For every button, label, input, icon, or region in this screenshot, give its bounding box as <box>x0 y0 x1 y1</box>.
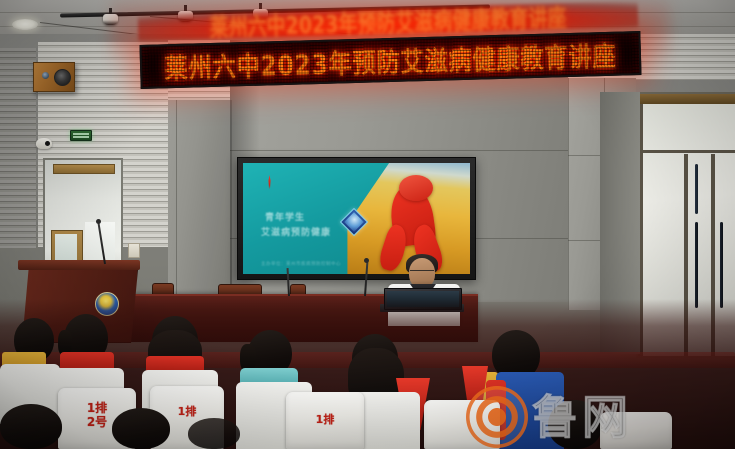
cdc-badge-inner <box>344 212 364 232</box>
student-head <box>548 400 602 449</box>
panel-seam <box>176 100 177 300</box>
seat-row-label: 1排 <box>286 414 364 426</box>
exit-sign-bar <box>73 133 89 135</box>
door-header <box>53 164 115 174</box>
student-head <box>112 408 170 449</box>
door-handle[interactable] <box>695 222 698 308</box>
panel-seam <box>230 150 568 151</box>
slide-footer-text: 主办单位：莱州市疾病预防控制中心 <box>261 261 341 267</box>
door-handle[interactable] <box>720 222 723 308</box>
door-mullion <box>643 150 735 153</box>
seat-cover <box>600 412 672 449</box>
emergency-exit-sign <box>70 130 92 141</box>
speaker-cone <box>54 69 71 86</box>
track-spotlight-head <box>103 14 118 25</box>
table-microphone-head <box>364 258 369 263</box>
door-header <box>638 94 735 104</box>
ceiling-security-camera <box>36 138 52 149</box>
seat-cover <box>424 400 500 449</box>
ceiling-downlight <box>12 19 38 30</box>
track-spotlight <box>103 8 119 26</box>
photo-scene: 莱州六中2023年预防艾滋病健康教育讲座 莱州六中2023年预防艾滋病健康教育讲… <box>0 0 735 449</box>
slat-wall-far-left <box>0 48 36 248</box>
aids-red-ribbon-sculpture <box>399 175 433 201</box>
slide-title-line-2: 艾滋病预防健康 <box>261 225 331 238</box>
wall-mounted-speaker <box>33 62 75 92</box>
slide-title-line-1: 青年学生 <box>265 210 305 223</box>
exit-sign-bar <box>73 136 89 138</box>
projection-screen-surface: 青年学生 艾滋病预防健康 主办单位：莱州市疾病预防控制中心 <box>243 163 470 274</box>
panel-seam <box>568 78 569 310</box>
presenter-glasses <box>410 270 434 274</box>
camera-lens <box>45 141 50 146</box>
lectern-top-surface <box>18 260 140 270</box>
door-handle[interactable] <box>695 164 698 214</box>
speaker-tweeter <box>42 72 49 79</box>
wall-power-outlet <box>128 243 140 258</box>
podium-microphone-head <box>96 219 101 224</box>
seat-cover: 1排 <box>286 392 364 449</box>
projection-screen: 青年学生 艾滋病预防健康 主办单位：莱州市疾病预防控制中心 <box>237 157 476 280</box>
student-head <box>188 418 240 449</box>
student-head <box>0 404 62 449</box>
panel-wall-left-flat <box>168 100 232 300</box>
